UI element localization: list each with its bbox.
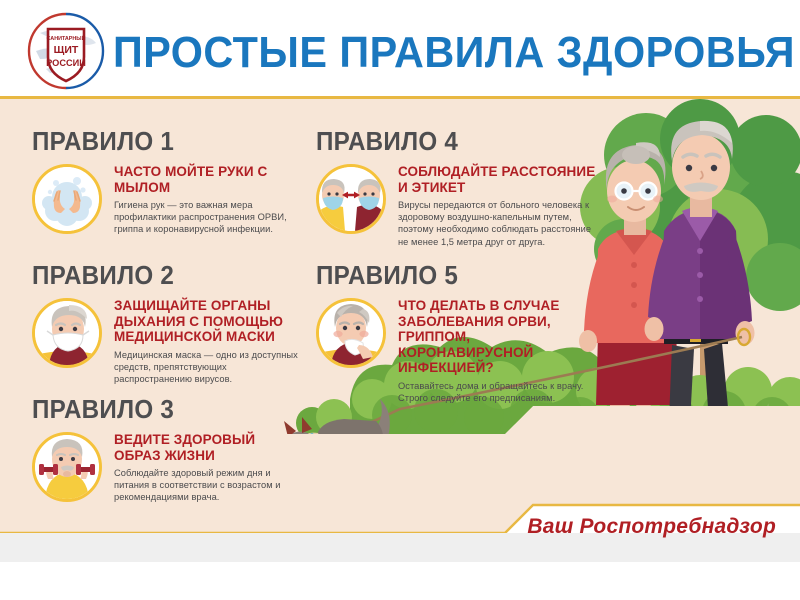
rule-1-subtitle: ЧАСТО МОЙТЕ РУКИ С МЫЛОМ [114,164,300,195]
poster-header: САНИТАРНЫЙ ЩИТ РОССИИ ПРОСТЫЕ ПРАВИЛА ЗД… [0,0,800,98]
rule-5-description: Оставайтесь дома и обращайтесь к врачу. … [398,380,596,404]
rule-block-3: ПРАВИЛО 3 [32,394,302,512]
rule-4-description: Вирусы передаются от больного человека к… [398,199,596,248]
rule-5-subtitle: ЧТО ДЕЛАТЬ В СЛУЧАЕ ЗАБОЛЕВАНИЯ ОРВИ, ГР… [398,298,596,376]
rule-block-5: ПРАВИЛО 5 [316,260,596,388]
emblem-line-2: ЩИТ [54,44,79,56]
rule-block-4: ПРАВИЛО 4 [316,126,596,246]
rule-2-subtitle: ЗАЩИЩАЙТЕ ОРГАНЫ ДЫХАНИЯ С ПОМОЩЬЮ МЕДИЦ… [114,298,300,345]
rule-3-description: Соблюдайте здоровый режим дня и питания … [114,467,300,504]
footer-signature: Ваш Роспотребнадзор [527,515,776,539]
rule-4-subtitle: СОБЛЮДАЙТЕ РАССТОЯНИЕ И ЭТИКЕТ [398,164,596,195]
elderly-man-wearing-medical-mask-icon [32,298,102,368]
rule-2-description: Медицинская маска — одно из доступных ср… [114,349,300,386]
two-people-social-distancing-icon [316,164,386,234]
emblem-line-3: РОССИИ [46,58,86,68]
rule-1-number: ПРАВИЛО 1 [32,126,283,157]
sanitary-shield-of-russia-emblem: САНИТАРНЫЙ ЩИТ РОССИИ [26,11,106,91]
elderly-man-with-dumbbells-icon [32,432,102,502]
header-divider [0,96,800,99]
rule-3-subtitle: ВЕДИТЕ ЗДОРОВЫЙ ОБРАЗ ЖИЗНИ [114,432,300,463]
rule-2-number: ПРАВИЛО 2 [32,260,283,291]
rule-1-description: Гигиена рук — это важная мера профилакти… [114,199,300,236]
emblem-line-1: САНИТАРНЫЙ [47,34,86,42]
elderly-woman-with-tissue-icon [316,298,386,368]
rule-block-2: ПРАВИЛО 2 [32,260,302,378]
rule-block-1: ПРАВИЛО 1 [32,126,302,244]
infographic-poster: САНИТАРНЫЙ ЩИТ РОССИИ ПРОСТЫЕ ПРАВИЛА ЗД… [0,0,800,600]
page-title: ПРОСТЫЕ ПРАВИЛА ЗДОРОВЬЯ [113,22,743,84]
rule-3-number: ПРАВИЛО 3 [32,394,283,425]
rule-5-number: ПРАВИЛО 5 [316,260,576,291]
rule-4-number: ПРАВИЛО 4 [316,126,576,157]
washing-hands-with-soap-icon [32,164,102,234]
